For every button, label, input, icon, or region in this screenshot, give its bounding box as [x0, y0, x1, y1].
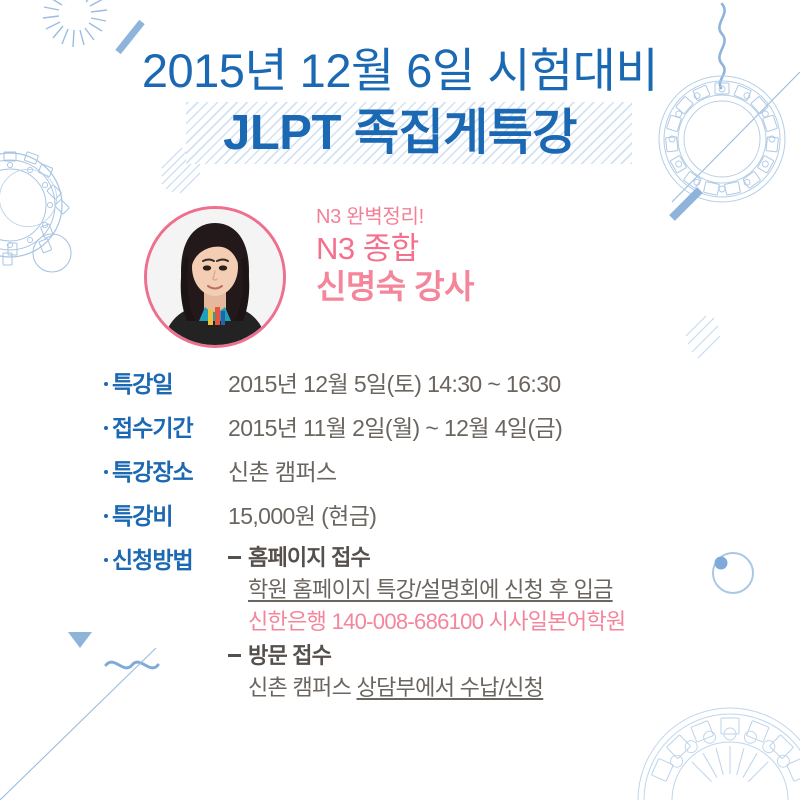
- apply-method-detail-underlined: 상담부에서 수납/신청: [357, 675, 544, 700]
- title-line-1: 2015년 12월 6일 시험대비: [0, 42, 800, 100]
- sunburst-ornament: [43, 0, 107, 47]
- detail-label-text: 특강장소: [112, 459, 193, 485]
- apply-methods: 홈페이지 접수 학원 홈페이지 특강/설명회에 신청 후 입금 신한은행 140…: [228, 542, 764, 706]
- apply-method-visit: 방문 접수 신촌 캠퍼스 상담부에서 수납/신청: [228, 640, 764, 704]
- dash-icon: [228, 654, 241, 657]
- apply-row: 신청방법 홈페이지 접수 학원 홈페이지 특강/설명회에 신청 후 입금 신한은…: [104, 542, 764, 706]
- portrait-illustration: [147, 209, 283, 345]
- ornament-medallion-bottom-right: [638, 708, 800, 800]
- instructor-kicker: N3 완벽정리!: [316, 204, 736, 230]
- title-band-holder: JLPT 족집게특강: [0, 102, 800, 164]
- detail-row: 특강비 15,000원 (현금): [104, 498, 764, 534]
- apply-label: 신청방법: [104, 542, 228, 578]
- detail-label: 특강일: [104, 366, 228, 402]
- detail-label: 특강비: [104, 498, 228, 534]
- apply-method-heading-text: 홈페이지 접수: [248, 545, 370, 570]
- details-list: 특강일 2015년 12월 5일(토) 14:30 ~ 16:30 접수기간 2…: [104, 366, 764, 714]
- detail-label-text: 특강일: [112, 371, 172, 397]
- poster-canvas: 2015년 12월 6일 시험대비 JLPT 족집게특강: [0, 0, 800, 800]
- apply-method-detail: 학원 홈페이지 특강/설명회에 신청 후 입금: [228, 574, 764, 606]
- apply-method-detail-plain: 신촌 캠퍼스: [248, 675, 357, 700]
- detail-value: 15,000원 (현금): [228, 498, 764, 534]
- bullet-icon: [104, 514, 108, 518]
- detail-value: 2015년 12월 5일(토) 14:30 ~ 16:30: [228, 366, 764, 402]
- detail-row: 특강일 2015년 12월 5일(토) 14:30 ~ 16:30: [104, 366, 764, 402]
- poster-header: 2015년 12월 6일 시험대비 JLPT 족집게특강: [0, 42, 800, 164]
- detail-row: 접수기간 2015년 11월 2일(월) ~ 12월 4일(금): [104, 410, 764, 446]
- detail-label: 접수기간: [104, 410, 228, 446]
- detail-label-text: 접수기간: [112, 415, 193, 441]
- detail-label: 특강장소: [104, 454, 228, 490]
- instructor-course: N3 종합: [316, 230, 736, 267]
- apply-method-online: 홈페이지 접수 학원 홈페이지 특강/설명회에 신청 후 입금 신한은행 140…: [228, 542, 764, 638]
- apply-bank-account: 신한은행 140-008-686100 시사일본어학원: [228, 606, 764, 638]
- instructor-photo: [144, 206, 286, 348]
- apply-method-heading-text: 방문 접수: [248, 643, 331, 668]
- bullet-icon: [104, 558, 108, 562]
- title-line-2: JLPT 족집게특강: [0, 102, 800, 164]
- triangle-ornament: [68, 632, 92, 648]
- bullet-icon: [104, 382, 108, 386]
- instructor-text: N3 완벽정리! N3 종합 신명숙 강사: [316, 204, 736, 307]
- instructor-section: N3 완벽정리! N3 종합 신명숙 강사: [0, 204, 800, 354]
- apply-method-detail: 신촌 캠퍼스 상담부에서 수납/신청: [228, 672, 764, 704]
- apply-method-detail-text: 학원 홈페이지 특강/설명회에 신청 후 입금: [248, 577, 613, 602]
- detail-value: 2015년 11월 2일(월) ~ 12월 4일(금): [228, 410, 764, 446]
- detail-row: 특강장소 신촌 캠퍼스: [104, 454, 764, 490]
- apply-method-heading: 방문 접수: [228, 640, 764, 672]
- bullet-icon: [104, 470, 108, 474]
- dash-icon: [228, 556, 241, 559]
- apply-method-heading: 홈페이지 접수: [228, 542, 764, 574]
- bullet-icon: [104, 426, 108, 430]
- detail-label-text: 특강비: [112, 503, 172, 529]
- detail-value: 신촌 캠퍼스: [228, 454, 764, 490]
- instructor-name: 신명숙 강사: [316, 267, 736, 307]
- apply-label-text: 신청방법: [112, 547, 193, 573]
